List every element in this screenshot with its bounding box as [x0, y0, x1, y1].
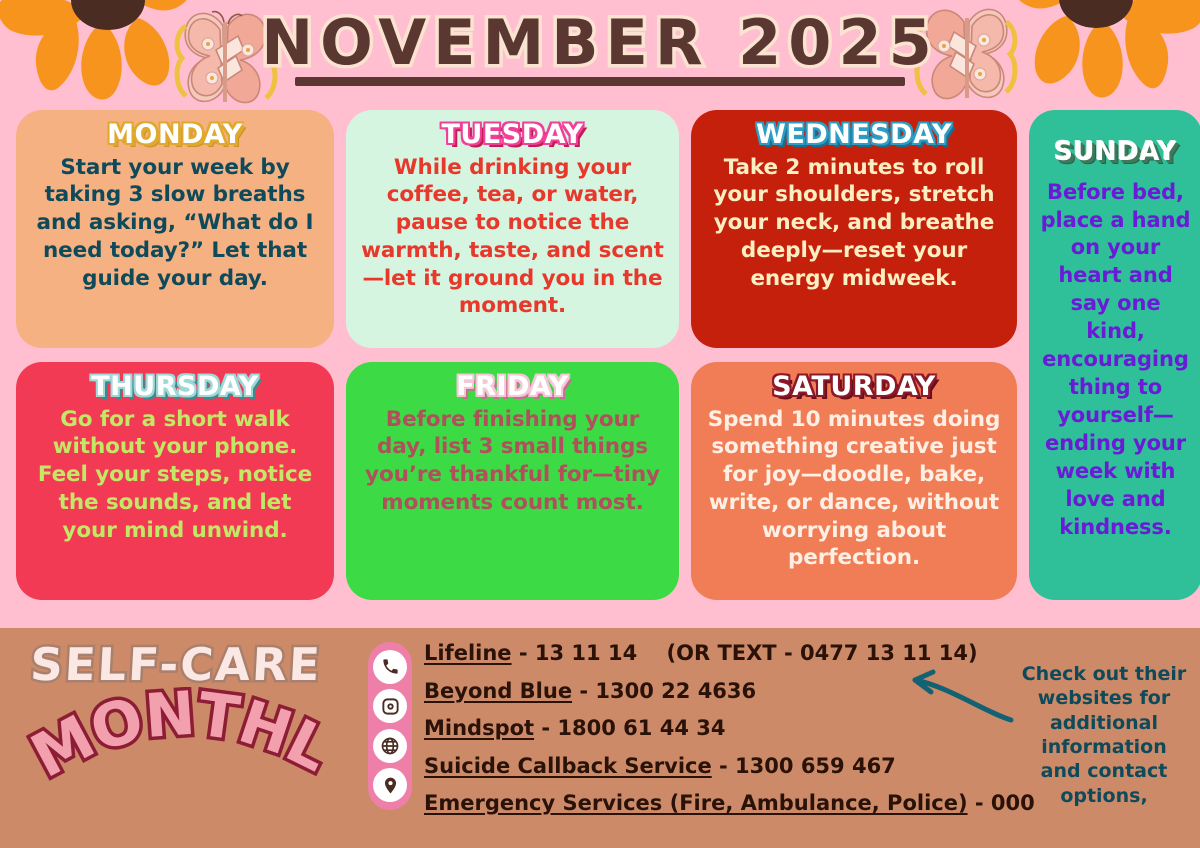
contact-name: Suicide Callback Service — [424, 754, 712, 778]
day-card-tuesday[interactable]: TUESDAY While drinking your coffee, tea,… — [346, 110, 679, 348]
day-card-saturday[interactable]: SATURDAY Spend 10 minutes doing somethin… — [691, 362, 1017, 600]
phone-icon — [373, 650, 407, 684]
day-card-thursday[interactable]: THURSDAY Go for a short walk without you… — [16, 362, 334, 600]
page-header: NOVEMBER 2025 — [0, 10, 1200, 86]
contact-icon-rail — [368, 642, 412, 810]
instagram-icon — [373, 689, 407, 723]
day-title: THURSDAY — [30, 372, 320, 402]
brand-line-selfcare: SELF-CARE — [25, 638, 328, 691]
brand-monthly-text: MONTHLY — [26, 687, 326, 792]
contact-name: Beyond Blue — [424, 679, 572, 703]
contact-name: Lifeline — [424, 641, 512, 665]
day-card-friday[interactable]: FRIDAY Before finishing your day, list 3… — [346, 362, 679, 600]
day-title: FRIDAY — [360, 372, 665, 402]
contact-extra: (OR TEXT - 0477 13 11 14) — [645, 641, 978, 665]
contact-row[interactable]: Emergency Services (Fire, Ambulance, Pol… — [424, 793, 998, 814]
day-text: While drinking your coffee, tea, or wate… — [360, 154, 665, 320]
day-text: Spend 10 minutes doing something creativ… — [705, 406, 1003, 572]
curved-arrow-icon — [899, 664, 1015, 724]
day-text: Go for a short walk without your phone. … — [30, 406, 320, 545]
footer-panel: SELF-CARE MONTHLY — [0, 628, 1200, 848]
footer-note: Check out their websites for additional … — [1020, 662, 1188, 808]
contact-detail: - 1300 22 4636 — [579, 679, 756, 703]
day-title: SUNDAY — [1039, 138, 1192, 167]
day-text: Before finishing your day, list 3 small … — [360, 406, 665, 517]
brand-line-monthly: MONTHLY — [26, 687, 326, 795]
contact-name: Mindspot — [424, 716, 534, 740]
day-card-sunday[interactable]: SUNDAY Before bed, place a hand on your … — [1029, 110, 1200, 600]
contact-row[interactable]: Lifeline - 13 11 14 (OR TEXT - 0477 13 1… — [424, 643, 998, 664]
day-text: Take 2 minutes to roll your shoulders, s… — [705, 154, 1003, 293]
day-title: SATURDAY — [705, 372, 1003, 402]
contact-detail: - 13 11 14 — [519, 641, 637, 665]
globe-icon — [373, 729, 407, 763]
day-card-monday[interactable]: MONDAY Start your week by taking 3 slow … — [16, 110, 334, 348]
day-text: Before bed, place a hand on your heart a… — [1039, 179, 1192, 542]
location-pin-icon — [373, 768, 407, 802]
brand-logo: SELF-CARE MONTHLY — [26, 638, 326, 798]
contact-name: Emergency Services (Fire, Ambulance, Pol… — [424, 791, 968, 815]
calendar-grid: MONDAY Start your week by taking 3 slow … — [16, 110, 1184, 615]
day-title: WEDNESDAY — [705, 120, 1003, 150]
contact-row[interactable]: Suicide Callback Service - 1300 659 467 — [424, 756, 998, 777]
day-title: MONDAY — [30, 120, 320, 150]
page-title: NOVEMBER 2025 — [255, 10, 944, 75]
day-card-wednesday[interactable]: WEDNESDAY Take 2 minutes to roll your sh… — [691, 110, 1017, 348]
contact-detail: - 1300 659 467 — [719, 754, 896, 778]
contact-detail: - 1800 61 44 34 — [541, 716, 725, 740]
day-title: TUESDAY — [360, 120, 665, 150]
day-text: Start your week by taking 3 slow breaths… — [30, 154, 320, 293]
svg-text:MONTHLY: MONTHLY — [26, 687, 326, 792]
